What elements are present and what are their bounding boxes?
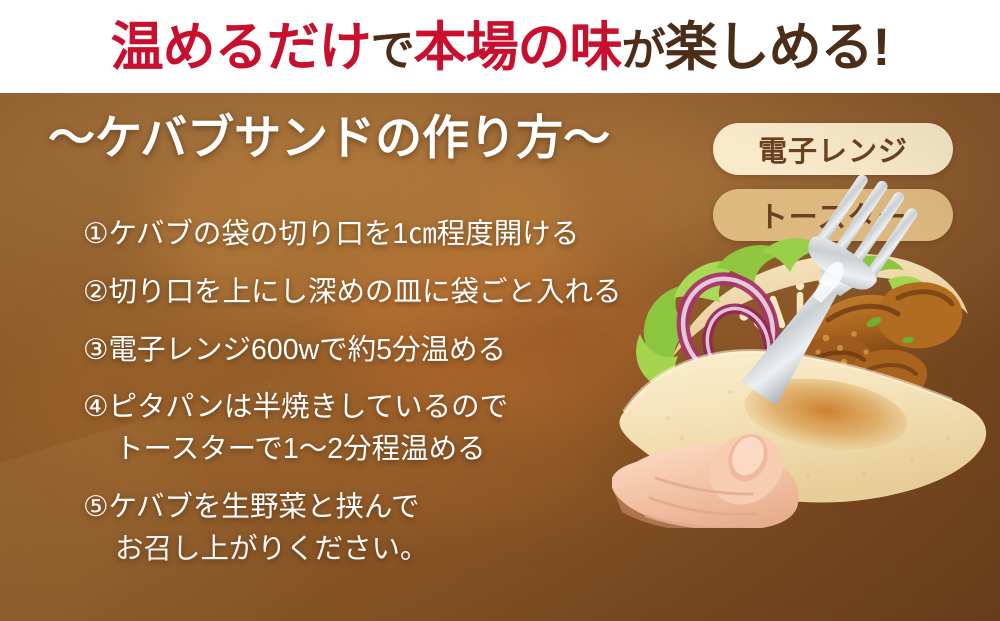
headline-segment-1: 温めるだけ: [111, 18, 371, 77]
instruction-step: ⑤ケバブを生野菜と挟んで お召し上がりください。: [83, 492, 683, 565]
instruction-step: ④ピタパンは半焼きしているので トースターで1〜2分程温める: [83, 392, 683, 465]
step-line: ⑤ケバブを生野菜と挟んで: [83, 491, 420, 523]
body-panel: 〜ケバブサンドの作り方〜 電子レンジ トースター ①ケバブの袋の切り口を1㎝程度…: [0, 93, 1000, 621]
step-line: ③電子レンジ600wで約5分温める: [83, 334, 506, 366]
header-band: 温めるだけで本場の味が楽しめる!: [0, 0, 1000, 93]
headline-segment-3: 本場の味: [414, 18, 622, 77]
instruction-step: ②切り口を上にし深めの皿に袋ごと入れる: [83, 277, 683, 308]
headline-segment-4: が: [622, 26, 665, 75]
step-line-continued: お召し上がりください。: [83, 534, 683, 565]
badge-toaster: トースター: [713, 189, 953, 241]
instruction-step: ①ケバブの袋の切り口を1㎝程度開ける: [83, 219, 683, 250]
step-line: ②切り口を上にし深めの皿に袋ごと入れる: [83, 276, 622, 308]
step-line: ①ケバブの袋の切り口を1㎝程度開ける: [83, 218, 579, 250]
instruction-step-list: ①ケバブの袋の切り口を1㎝程度開ける ②切り口を上にし深めの皿に袋ごと入れる ③…: [83, 219, 683, 564]
appliance-badge-group: 電子レンジ トースター: [713, 123, 953, 241]
step-line-continued: トースターで1〜2分程温める: [83, 434, 683, 465]
step-line: ④ピタパンは半焼きしているので: [83, 391, 508, 423]
badge-microwave-label: 電子レンジ: [758, 128, 908, 170]
badge-toaster-label: トースター: [759, 194, 908, 236]
promo-banner: 温めるだけで本場の味が楽しめる! 〜ケバブサンドの作り方〜 電子レンジ トースタ…: [0, 0, 1000, 621]
headline: 温めるだけで本場の味が楽しめる!: [111, 21, 890, 74]
headline-segment-5: 楽しめる!: [665, 18, 890, 77]
badge-microwave: 電子レンジ: [713, 123, 953, 175]
section-title: 〜ケバブサンドの作り方〜: [48, 116, 610, 163]
headline-segment-2: で: [371, 26, 414, 75]
instruction-step: ③電子レンジ600wで約5分温める: [83, 335, 683, 366]
